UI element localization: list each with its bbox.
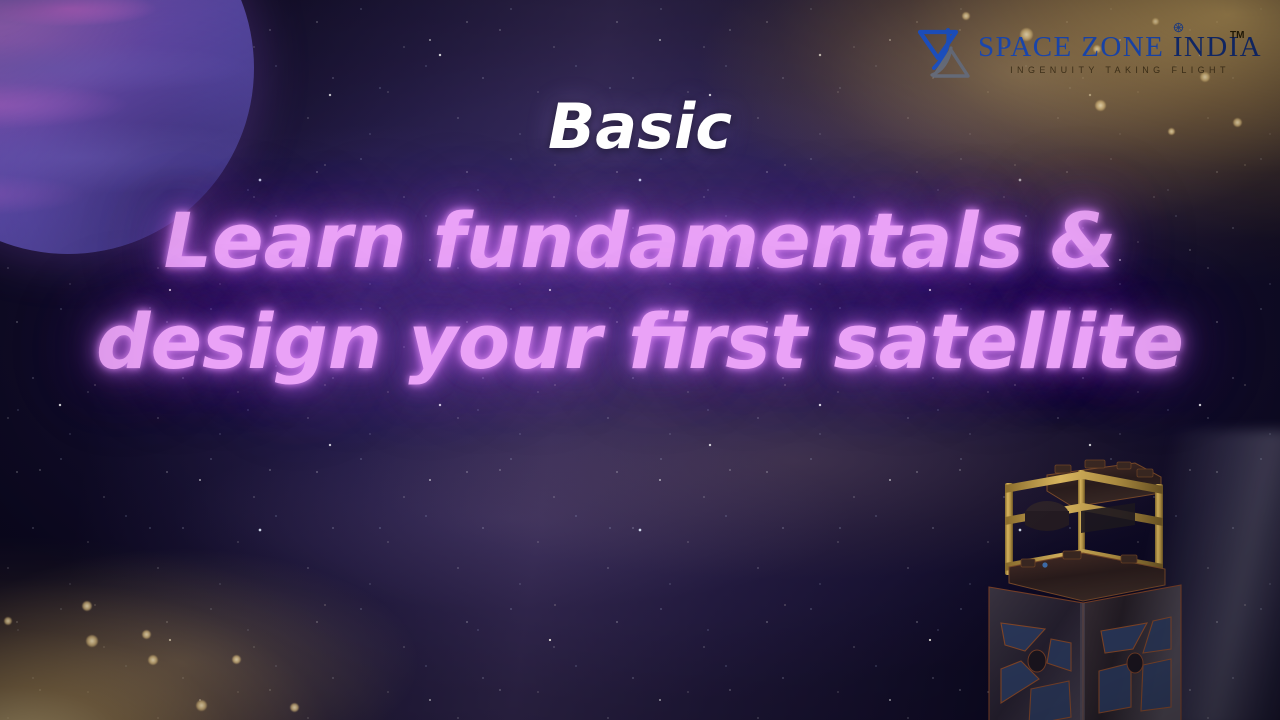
headline-group: Learn fundamentals & design your first s… bbox=[0, 198, 1280, 384]
bokeh-dot bbox=[962, 12, 970, 20]
logo-word-zone: ZONE bbox=[1081, 33, 1164, 62]
bokeh-dot bbox=[82, 601, 92, 611]
brand-logo[interactable]: SPACE ZONE INDIA bbox=[918, 26, 1262, 82]
space-zone-india-triangle-mark bbox=[918, 28, 972, 80]
logo-word-gap bbox=[1164, 33, 1173, 62]
course-level-label: Basic bbox=[0, 96, 1280, 158]
logo-wordmark: SPACE ZONE INDIA bbox=[978, 33, 1262, 62]
bokeh-dot bbox=[232, 655, 241, 664]
bokeh-dot bbox=[86, 635, 98, 647]
bokeh-dot bbox=[148, 655, 158, 665]
bokeh-dot bbox=[290, 703, 299, 712]
trademark-symbol: TM bbox=[1230, 31, 1244, 41]
cubesat-structure bbox=[985, 455, 1200, 720]
headline-line-2: design your first satellite bbox=[0, 299, 1280, 384]
logo-text-block: SPACE ZONE INDIA bbox=[978, 33, 1262, 75]
headline-line-1: Learn fundamentals & bbox=[0, 198, 1280, 283]
bokeh-dot bbox=[142, 630, 151, 639]
logo-word-space: SPACE bbox=[978, 33, 1073, 62]
bokeh-dot bbox=[4, 617, 12, 625]
headline-block: Basic Learn fundamentals & design your f… bbox=[0, 96, 1280, 384]
logo-word-india: INDIA bbox=[1173, 33, 1262, 62]
chakra-emblem-icon bbox=[1172, 21, 1185, 34]
promo-banner: SPACE ZONE INDIA bbox=[0, 0, 1280, 720]
bokeh-dot bbox=[1152, 18, 1159, 25]
bokeh-dot bbox=[196, 700, 207, 711]
logo-word-gap bbox=[1073, 33, 1082, 62]
logo-word-india-text: INDIA bbox=[1173, 31, 1262, 63]
logo-tagline: INGENUITY TAKING FLIGHT bbox=[978, 66, 1262, 75]
